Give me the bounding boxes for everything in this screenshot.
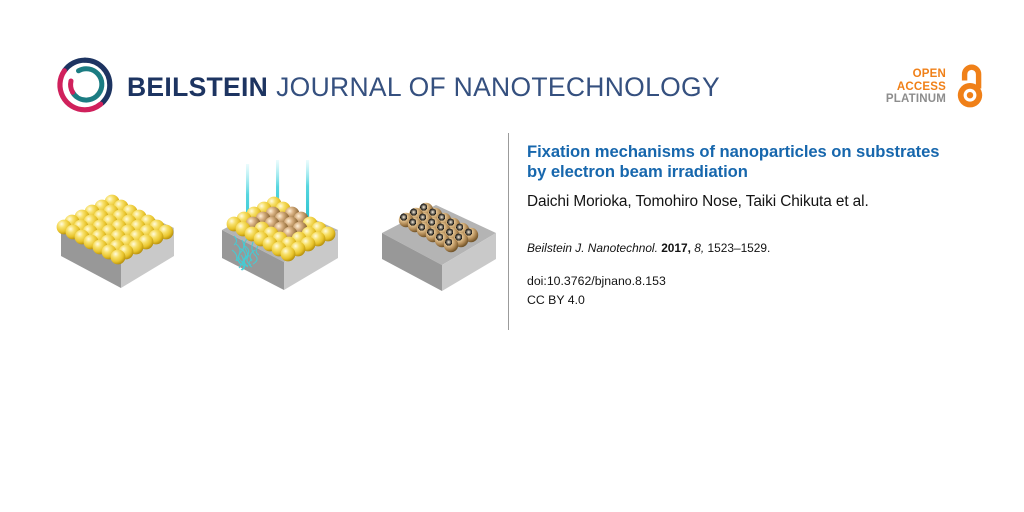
article-title[interactable]: Fixation mechanisms of nanoparticles on … <box>527 142 959 182</box>
citation-volume: 8, <box>694 241 704 255</box>
open-access-line-platinum: PLATINUM <box>886 93 946 106</box>
open-lock-icon <box>952 63 988 111</box>
panel-fixed-nanoparticle-stripe <box>370 185 510 297</box>
article-authors: Daichi Morioka, Tomohiro Nose, Taiki Chi… <box>527 192 987 211</box>
open-access-badge: OPEN ACCESS PLATINUM <box>880 58 988 116</box>
article-license[interactable]: CC BY 4.0 <box>527 292 987 310</box>
panel-electron-beam-irradiation <box>208 158 358 298</box>
panel-pristine-nanoparticle-array <box>48 178 188 296</box>
article-citation: Beilstein J. Nanotechnol. 2017, 8, 1523–… <box>527 241 987 256</box>
beilstein-swirl-logo-icon <box>56 56 114 114</box>
wordmark-beilstein: BEILSTEIN <box>127 72 268 103</box>
citation-journal: Beilstein J. Nanotechnol. <box>527 241 658 255</box>
open-access-text-stack: OPEN ACCESS PLATINUM <box>886 68 946 107</box>
citation-year: 2017, <box>661 241 691 255</box>
citation-pages: 1523–1529. <box>708 241 771 255</box>
article-info: Fixation mechanisms of nanoparticles on … <box>527 142 987 310</box>
article-doi[interactable]: doi:10.3762/bjnano.8.153 <box>527 273 987 291</box>
open-access-line-open: OPEN <box>913 68 946 81</box>
wordmark-journal-of-nanotechnology: JOURNAL OF NANOTECHNOLOGY <box>276 72 720 103</box>
open-access-line-access: ACCESS <box>897 81 946 94</box>
journal-wordmark: BEILSTEIN JOURNAL OF NANOTECHNOLOGY <box>127 72 720 102</box>
masthead: BEILSTEIN JOURNAL OF NANOTECHNOLOGY OPEN… <box>0 0 1024 132</box>
graphical-abstract-figure <box>30 150 505 310</box>
